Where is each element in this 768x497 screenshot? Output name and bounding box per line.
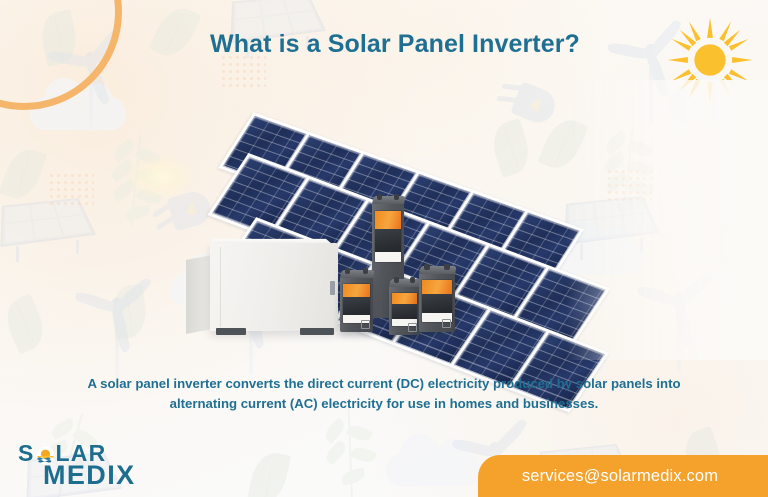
inverter-cabinet (186, 225, 338, 335)
email-contact-button[interactable]: services@solarmedix.com (478, 455, 768, 497)
logo-letter-s: S (18, 440, 35, 467)
battery-unit (389, 285, 420, 335)
cabinet-foot (216, 328, 246, 335)
email-address-text: services@solarmedix.com (522, 467, 724, 486)
branch-watermark (316, 400, 387, 497)
panel-glare (126, 154, 196, 200)
cabinet-front-face (210, 243, 338, 331)
right-edge-fade (566, 80, 768, 360)
cabinet-latch (330, 281, 335, 295)
cabinet-side-face (186, 255, 212, 334)
brand-logo[interactable]: S LAR MEDIX (18, 440, 188, 488)
battery-unit (419, 272, 455, 332)
battery-unit (340, 276, 373, 332)
infographic-canvas: What is a Solar Panel Inverter? (0, 0, 768, 497)
logo-line-medix: MEDIX (43, 460, 136, 491)
page-title-text: What is a Solar Panel Inverter? (210, 30, 580, 58)
cloud-watermark (386, 452, 482, 486)
leaf-watermark (247, 449, 291, 497)
hero-illustration (0, 80, 768, 360)
cabinet-foot (300, 328, 334, 335)
page-title: What is a Solar Panel Inverter? (0, 30, 768, 59)
cabinet-seam (220, 247, 221, 327)
description-text: A solar panel inverter converts the dire… (84, 374, 684, 414)
